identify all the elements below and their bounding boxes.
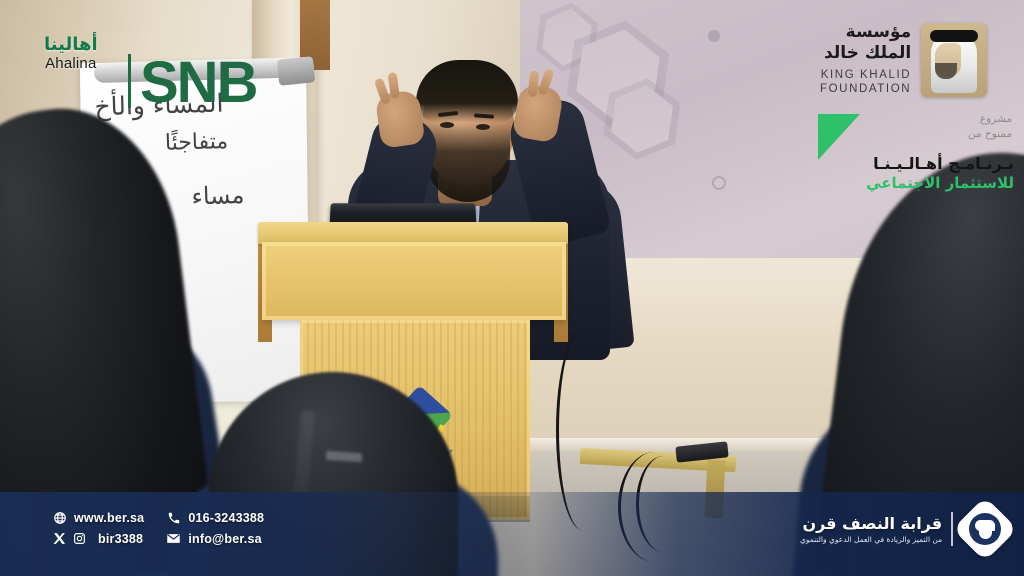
event-photo-canvas: المساء والأخ متفاجئًا مساء <box>0 0 1024 576</box>
contact-phone[interactable]: 016-3243388 <box>166 510 264 525</box>
speaker-hair <box>416 60 518 122</box>
contact-social-label: bir3388 <box>98 532 143 546</box>
flipchart-line-2: متفاجئًا <box>165 129 229 156</box>
half-century-text: قرابة النصف قرن من التميز والريادة في ال… <box>800 514 942 544</box>
kkf-arabic-line1: مؤسسة <box>820 22 911 43</box>
cable-right <box>636 456 691 552</box>
ber-mark-inner <box>969 513 1001 545</box>
program-from-text: مشروع ممنوح من <box>968 112 1012 141</box>
kkf-arabic-line2: الملك خالد <box>820 43 911 64</box>
globe-icon <box>52 510 67 525</box>
mail-icon <box>166 531 181 546</box>
contact-info-block: www.ber.sa 016-3243388 <box>52 510 264 546</box>
instagram-icon <box>72 531 87 546</box>
half-century-logo: قرابة النصف قرن من التميز والريادة في ال… <box>800 506 1008 552</box>
contact-email-label: info@ber.sa <box>188 532 261 546</box>
cable-left <box>556 330 609 530</box>
green-triangle-icon <box>818 114 860 160</box>
contact-email[interactable]: info@ber.sa <box>166 531 264 546</box>
program-name: بـرنـامـج أهـالـيـنـا <box>873 154 1014 173</box>
program-from-line2: ممنوح من <box>968 127 1012 142</box>
kkf-english-line2: FOUNDATION <box>820 82 911 97</box>
kkf-text-block: مؤسسة الملك خالد KING KHALID FOUNDATION <box>820 22 911 97</box>
contact-website[interactable]: www.ber.sa <box>52 510 144 525</box>
king-khalid-portrait-icon <box>921 23 987 97</box>
ber-mark-dot <box>979 530 992 539</box>
program-tagline: للاستثمار الاجتماعي <box>866 174 1014 192</box>
phone-icon <box>166 510 181 525</box>
program-from-line1: مشروع <box>968 112 1012 127</box>
iqal <box>930 30 978 42</box>
finger <box>388 72 401 99</box>
ahalina-logo: أهالينا Ahalina <box>44 36 98 72</box>
rail-leg <box>704 460 725 519</box>
x-twitter-icon <box>52 531 67 546</box>
veil-seam <box>291 410 315 531</box>
flipchart-line-3: مساء <box>191 181 245 211</box>
podium-ledge <box>258 222 568 244</box>
finger <box>537 68 554 96</box>
contact-phone-label: 016-3243388 <box>188 511 264 525</box>
wall-dot-lower <box>712 176 726 190</box>
podium-front-panel <box>262 242 566 320</box>
ahalina-latin-label: Ahalina <box>44 55 98 72</box>
wall-dot-upper <box>708 30 720 42</box>
contact-website-label: www.ber.sa <box>74 511 144 525</box>
half-century-subtitle: من التميز والريادة في العمل الدعوي والتن… <box>800 535 942 544</box>
ber-diamond-mark-icon <box>953 496 1018 561</box>
veil-tab <box>326 451 363 462</box>
half-century-title: قرابة النصف قرن <box>800 514 942 533</box>
finger <box>528 70 540 97</box>
flipchart-clip <box>277 56 316 86</box>
snb-wordmark: SNB <box>140 54 256 112</box>
ahalina-arabic-label: أهالينا <box>44 36 98 55</box>
snb-divider <box>128 54 131 108</box>
contact-social[interactable]: bir3388 <box>52 531 144 546</box>
logo-separator <box>951 512 953 546</box>
kkf-english-line1: KING KHALID <box>820 68 911 83</box>
king-khalid-foundation-logo: مؤسسة الملك خالد KING KHALID FOUNDATION <box>820 22 987 97</box>
